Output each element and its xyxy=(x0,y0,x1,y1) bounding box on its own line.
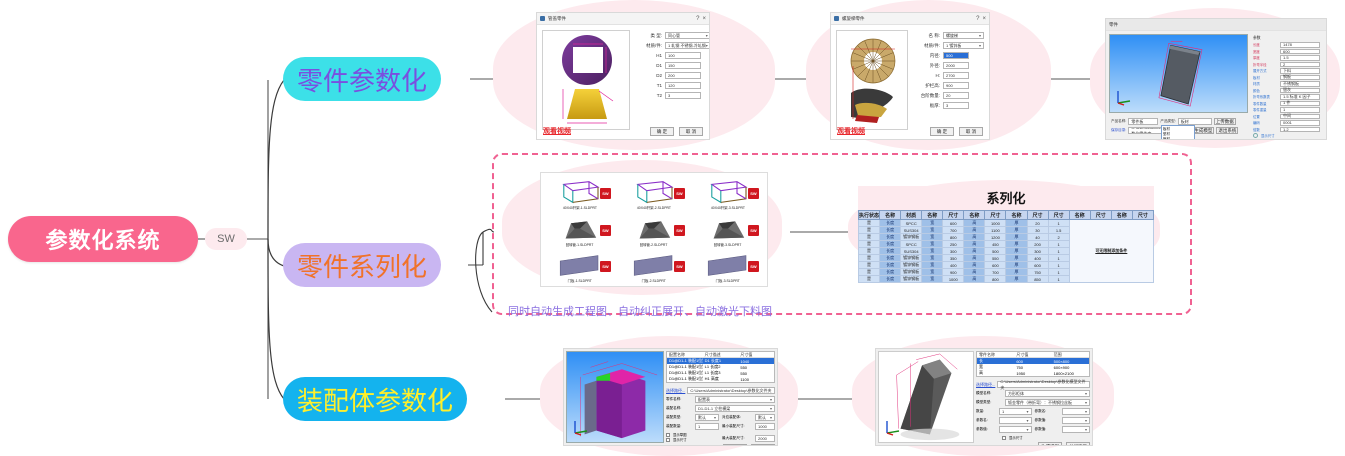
param-input[interactable]: 钢板 xyxy=(1280,75,1320,81)
part-item[interactable]: 40X40杆架-2.SLDPRT SW xyxy=(617,175,691,211)
field-input-thickness[interactable]: 3 xyxy=(943,102,969,109)
field-label: 参数名: xyxy=(1035,409,1059,414)
td: 高 xyxy=(964,276,985,283)
path-input[interactable]: C:\Users\Administrator\Desktop\参数化文件夹 xyxy=(687,387,775,394)
combo-name[interactable]: 螺旋梯 ▾ xyxy=(943,32,984,39)
connector-node-sw[interactable]: SW xyxy=(205,228,247,250)
td: 宽 xyxy=(922,255,943,262)
part-item[interactable]: 40X40杆架-3.SLDPRT SW xyxy=(691,175,765,211)
param-input[interactable]: 1.5 xyxy=(1280,55,1320,61)
combo-row[interactable]: 类 型: 同心管 ▾ xyxy=(636,32,710,39)
param-input[interactable]: 不锈钢板 xyxy=(1280,81,1320,87)
branch-pill-part-series[interactable]: 零件系列化 xyxy=(283,243,441,287)
checkbox-icon[interactable] xyxy=(666,433,670,437)
param-label: 展开方式 xyxy=(1253,68,1277,73)
param-label: 零件重量 xyxy=(1253,107,1277,112)
param-input[interactable]: 1478 xyxy=(1280,42,1320,48)
td: 700 xyxy=(985,269,1006,276)
field-label: D1 xyxy=(636,63,662,68)
td: 20 xyxy=(1027,220,1048,227)
field-row[interactable]: D2 200 xyxy=(636,72,710,79)
sw-file-badge: SW xyxy=(600,188,611,199)
upload-data-button[interactable]: 上传数据 xyxy=(1214,118,1236,125)
path-input[interactable]: C:\Users\Administrator\Desktop\参数化模型文件夹 xyxy=(997,381,1090,388)
param-input[interactable]: 1.5 标准 K 因子 xyxy=(1280,94,1320,100)
param-label: 板材 xyxy=(1253,75,1277,80)
cell: 1950 xyxy=(1014,371,1051,376)
chevron-down-icon: ▾ xyxy=(1026,418,1028,423)
td: 1.5 xyxy=(1048,227,1069,234)
product-type-label: 产品类型: xyxy=(1160,119,1175,124)
assembly-name-combo[interactable]: D1-D1-1 立柱横梁▾ xyxy=(695,405,775,412)
root-node[interactable]: 参数化系统 xyxy=(8,216,198,262)
td: 厚 xyxy=(1006,234,1027,241)
branch-label-part-series: 零件系列化 xyxy=(297,247,427,284)
product-type-dropdown[interactable]: 板材 型材 管材 焊件 其它 xyxy=(1161,125,1195,140)
param-name-combo-1[interactable]: ▾ xyxy=(1062,408,1091,415)
td: 850 xyxy=(1027,276,1048,283)
field-label: 参数值: xyxy=(1035,427,1059,432)
param-row[interactable]: 材质不锈钢板 xyxy=(1253,81,1321,87)
assembly-viewport-3d[interactable] xyxy=(566,351,664,443)
branch-label-assembly-param: 装配体参数化 xyxy=(297,381,453,418)
field-input-d1[interactable]: 150 xyxy=(665,62,701,69)
field-label: 数量: xyxy=(976,409,996,414)
field-row[interactable]: 参数名: ▾ xyxy=(976,417,1032,424)
close-icon[interactable]: × xyxy=(702,16,706,22)
window-title: 零件 xyxy=(1109,21,1118,27)
param-row[interactable]: 倍数1.2 xyxy=(1253,127,1321,133)
field-row[interactable]: 外径: 2000 xyxy=(914,62,984,69)
param-label: 厚度 xyxy=(1253,55,1277,60)
combo-row[interactable]: 材质/件: 1 镀锌板 ▾ xyxy=(914,42,984,49)
param-label: 长度 xyxy=(1253,42,1277,47)
preview-pane xyxy=(542,30,630,130)
td: 镀锌钢板 xyxy=(901,234,922,241)
param-row[interactable]: 板材钢板 xyxy=(1253,75,1321,81)
td: 1000 xyxy=(943,276,964,283)
combo-material[interactable]: 1 镀锌板 ▾ xyxy=(943,42,984,49)
value: 1 xyxy=(1002,409,1004,414)
param-input[interactable]: 600 xyxy=(1280,49,1320,55)
checkbox-icon[interactable] xyxy=(666,438,670,442)
config-list[interactable]: 配置名称 尺寸描述 尺寸值 D1@D1-1 装配1位置草图 D1 长度1 104… xyxy=(666,351,775,383)
field-label: 台阶数量: xyxy=(914,93,940,99)
field-label: 对应装配体: xyxy=(722,415,752,420)
part-item[interactable]: 回转管-2.SLDPRT SW xyxy=(617,211,691,247)
field-label: T1 xyxy=(636,83,662,88)
param-name-combo-2[interactable]: ▾ xyxy=(1062,417,1091,424)
td: 400 xyxy=(1027,255,1048,262)
field-label: 装配类型: xyxy=(666,415,692,420)
cell: 550 xyxy=(738,365,774,370)
assembly-qty-input[interactable]: 1 xyxy=(695,423,719,430)
td: 长度 xyxy=(880,255,901,262)
td: 200 xyxy=(1027,241,1048,248)
part-item[interactable]: 40X40杆架-1.SLDPRT SW xyxy=(543,175,617,211)
min-size-input[interactable]: 1000 xyxy=(755,423,775,430)
field-row[interactable]: 模型名称: 方形柜体▾ xyxy=(976,390,1090,397)
param-input[interactable]: 1 xyxy=(1280,107,1320,113)
col-dim-value: 尺寸值 xyxy=(1014,352,1051,358)
param-row[interactable]: 位置中间 xyxy=(1253,114,1321,120)
ok-button[interactable]: 确 定 xyxy=(650,127,674,136)
field-row[interactable]: 最大装配尺寸: 2000 xyxy=(722,435,775,442)
td: SPCC xyxy=(901,241,922,248)
combo-type-value: 同心管 xyxy=(668,33,680,39)
field-row[interactable]: 装配类型: 默认▾ xyxy=(666,414,719,421)
cell: 1040 xyxy=(738,359,774,364)
part-name-combo[interactable]: 配置表▾ xyxy=(695,396,775,403)
param-row[interactable]: 折弯半径2 xyxy=(1253,62,1321,68)
combo-label: 材质/件: xyxy=(636,43,662,49)
th: 名称 xyxy=(1006,211,1027,220)
part-item[interactable]: 门板-3.SLDPRT SW xyxy=(691,248,765,284)
field-input-t2[interactable]: 3 xyxy=(665,92,701,99)
field-input-step-count[interactable]: 20 xyxy=(943,92,969,99)
field-row[interactable]: 参数值: ▾ xyxy=(976,426,1032,433)
field-input-height[interactable]: 2700 xyxy=(943,72,969,79)
td: 是 xyxy=(859,227,880,234)
cell: 1100 xyxy=(738,377,774,382)
field-row[interactable]: 参数值: ▾ xyxy=(1035,417,1091,424)
save-path-label[interactable]: 保存目录: xyxy=(1111,128,1126,133)
select-path-link[interactable]: 选择路径... xyxy=(666,388,685,394)
th: 尺寸 xyxy=(985,211,1006,220)
part-preview-graphic xyxy=(543,31,631,131)
show-dimensions-label: 显示尺寸 xyxy=(1261,133,1275,138)
td: 高 xyxy=(964,234,985,241)
td: SPCC xyxy=(901,220,922,227)
dialog-buttons: 确 定 取 消 xyxy=(650,127,703,136)
field-row[interactable]: 板厚: 3 xyxy=(914,102,984,109)
combo-row[interactable]: 名 称: 螺旋梯 ▾ xyxy=(914,32,984,39)
param-row[interactable]: 展开方式下料 xyxy=(1253,68,1321,74)
part-item[interactable]: 回转管-3.SLDPRT SW xyxy=(691,211,765,247)
field-row[interactable]: 对应装配体: 默认▾ xyxy=(722,414,775,421)
td: 300 xyxy=(943,248,964,255)
td: SUS304 xyxy=(901,248,922,255)
td: 1 xyxy=(1048,220,1069,227)
app-icon xyxy=(834,16,839,21)
axis-triad-icon xyxy=(884,418,902,436)
chevron-down-icon: ▾ xyxy=(1026,409,1028,414)
param-input[interactable]: 下料 xyxy=(1280,68,1320,74)
param-input[interactable]: 银灰 xyxy=(1280,88,1320,94)
combo-type[interactable]: 同心管 ▾ xyxy=(665,32,710,39)
td: 高 xyxy=(964,269,985,276)
field-row[interactable]: H: 2700 xyxy=(914,72,984,79)
dropdown-item[interactable]: 管材 xyxy=(1162,136,1194,140)
cell: H1 高度 xyxy=(703,376,739,382)
close-window-button[interactable]: 关闭窗口 xyxy=(751,444,775,446)
chevron-down-icon: ▾ xyxy=(770,415,772,420)
select-path-link[interactable]: 选择路径... xyxy=(976,382,995,388)
assembly-type-combo[interactable]: 默认▾ xyxy=(695,414,719,421)
field-input-h1[interactable]: 100 xyxy=(665,52,701,59)
param-checkbox-row[interactable]: 显示尺寸 xyxy=(1253,133,1321,138)
field-row[interactable]: 护栏高: 900 xyxy=(914,82,984,89)
param-label: 颜色 xyxy=(1253,88,1277,93)
td: 长度 xyxy=(880,227,901,234)
td: 1200 xyxy=(985,234,1006,241)
sw-file-badge: SW xyxy=(748,225,759,236)
root-label: 参数化系统 xyxy=(45,223,160,255)
th: 尺寸 xyxy=(1090,211,1111,220)
td: 800 xyxy=(943,234,964,241)
th: 尺寸 xyxy=(943,211,964,220)
chevron-down-icon: ▾ xyxy=(979,43,981,48)
field-row[interactable]: 参数值: ▾ xyxy=(1035,426,1091,433)
td: 宽 xyxy=(922,276,943,283)
td: 1 xyxy=(1048,255,1069,262)
td: 厚 xyxy=(1006,269,1027,276)
field-label: T2 xyxy=(636,93,662,98)
td: 250 xyxy=(943,241,964,248)
th: 执行状态 xyxy=(859,211,880,220)
branch-label-part-param: 零件参数化 xyxy=(297,61,427,98)
field-row[interactable]: H1 100 xyxy=(636,52,710,59)
field-input-outer-dia[interactable]: 2000 xyxy=(943,62,969,69)
td: 高 xyxy=(964,262,985,269)
field-row[interactable]: 装配数量: 1 xyxy=(666,423,719,430)
chevron-down-icon: ▾ xyxy=(1085,391,1087,396)
model-viewport-3d[interactable] xyxy=(878,351,974,443)
part-item[interactable]: 门板-2.SLDPRT SW xyxy=(617,248,691,284)
td: 是 xyxy=(859,255,880,262)
viewport-3d[interactable] xyxy=(1109,34,1248,113)
value: D1-D1-1 立柱横梁 xyxy=(698,406,730,412)
field-input-t1[interactable]: 120 xyxy=(665,82,701,89)
param-input[interactable]: 1 件 xyxy=(1280,101,1320,107)
close-window-button[interactable]: 关闭窗口 xyxy=(1066,442,1090,446)
td: 是 xyxy=(859,234,880,241)
field-label: H1 xyxy=(636,53,662,58)
td: 450 xyxy=(985,241,1006,248)
window-sheetmetal-param[interactable]: 零件 xyxy=(1105,18,1327,140)
field-label: 模型名称: xyxy=(976,391,1002,396)
th: 名称 xyxy=(1069,211,1090,220)
generate-model-button[interactable]: 生成模型 xyxy=(1192,127,1214,134)
td: 宽 xyxy=(922,227,943,234)
td: 厚 xyxy=(1006,248,1027,255)
checkbox-row[interactable]: 显示尺寸 xyxy=(666,437,719,442)
td: 600 xyxy=(985,262,1006,269)
field-row[interactable]: 内径: 500 xyxy=(914,52,984,59)
combo-label: 名 称: xyxy=(914,33,940,39)
param-input[interactable]: 中间 xyxy=(1280,114,1320,120)
param-label: 位置 xyxy=(1253,114,1277,119)
td: 长度 xyxy=(880,220,901,227)
param-row[interactable]: 零件重量1 xyxy=(1253,107,1321,113)
th: 名称 xyxy=(922,211,943,220)
show-dim-label: 显示尺寸 xyxy=(673,437,687,442)
window-assembly-param[interactable]: 配置名称 尺寸描述 尺寸值 D1@D1-1 装配1位置草图 D1 长度1 104… xyxy=(563,348,778,446)
series-note-label: 同时自动生成工程图、自动纠正展开、自动激光下料图 xyxy=(508,303,772,319)
product-name-combo[interactable]: 零件板 xyxy=(1128,118,1158,125)
radio-icon[interactable] xyxy=(1253,133,1258,138)
series-table[interactable]: 执行状态 名称 材质 名称 尺寸 名称 尺寸 名称 尺寸 尺寸 名称 尺寸 名称… xyxy=(858,210,1154,283)
value: 默认 xyxy=(698,415,706,421)
combo-material[interactable]: 1 轧钢 不锈钢-冷轧钢 ▾ xyxy=(665,42,710,49)
series-table-title: 系列化 xyxy=(858,186,1154,210)
chevron-down-icon: ▾ xyxy=(706,43,708,48)
param-row[interactable]: 零件数量1 件 xyxy=(1253,101,1321,107)
chevron-down-icon: ▾ xyxy=(1026,427,1028,432)
td: 宽 xyxy=(922,248,943,255)
param-row[interactable]: 颜色银灰 xyxy=(1253,88,1321,94)
max-size-input[interactable]: 2000 xyxy=(755,435,775,442)
part-item[interactable]: 门板-1.SLDPRT SW xyxy=(543,248,617,284)
td: 750 xyxy=(1027,269,1048,276)
td: 镀锌钢板 xyxy=(901,276,922,283)
product-type-combo[interactable]: 板材 xyxy=(1178,118,1212,125)
th: 材质 xyxy=(901,211,922,220)
param-input[interactable]: 2 xyxy=(1280,62,1320,68)
field-row[interactable]: 装配名称: D1-D1-1 立柱横梁▾ xyxy=(666,405,775,412)
param-label: 零件数量 xyxy=(1253,101,1277,106)
parts-file-grid[interactable]: 40X40杆架-1.SLDPRT SW 40X40杆架-2.SLDPRT SW xyxy=(540,172,768,287)
sw-file-badge: SW xyxy=(674,261,685,272)
param-panel: 参数 长度1478 宽度600 厚度1.5 折弯半径2 展开方式下料 板材钢板 … xyxy=(1251,34,1323,136)
field-input-inner-dia[interactable]: 500 xyxy=(943,52,969,59)
param-label: 材质 xyxy=(1253,81,1277,86)
td: 厚 xyxy=(1006,262,1027,269)
chevron-down-icon: ▾ xyxy=(1085,400,1087,405)
close-icon[interactable]: × xyxy=(982,16,986,22)
field-row[interactable]: D1 150 xyxy=(636,62,710,69)
table-header-row: 执行状态 名称 材质 名称 尺寸 名称 尺寸 名称 尺寸 尺寸 名称 尺寸 名称… xyxy=(859,211,1154,220)
cancel-button[interactable]: 取 消 xyxy=(679,127,703,136)
checkbox-icon[interactable] xyxy=(1002,436,1006,440)
param-name-input[interactable]: ▾ xyxy=(999,417,1032,424)
dialog-spiral-stair[interactable]: 螺旋梯零件 ? × xyxy=(830,12,990,140)
target-assembly-combo[interactable]: 默认▾ xyxy=(755,414,775,421)
quantity-combo[interactable]: 1▾ xyxy=(999,408,1032,415)
td: 30 xyxy=(1027,227,1048,234)
window-model-param[interactable]: 零件名称 尺寸值 范围 长 600 500×800 宽 750 600×900 xyxy=(875,348,1093,446)
td: 厚 xyxy=(1006,220,1027,227)
help-icon[interactable]: ? xyxy=(976,16,979,22)
video-link[interactable]: 观看视频 xyxy=(543,126,571,136)
field-input-rail-height[interactable]: 900 xyxy=(943,82,969,89)
cell: 550 xyxy=(738,371,774,376)
table-row[interactable]: 是 长度 SPCC 宽 600 高 1000 厚 20 1 可无限制添加条件 xyxy=(859,220,1154,227)
field-row[interactable]: T1 120 xyxy=(636,82,710,89)
td: 是 xyxy=(859,269,880,276)
cell: 750 xyxy=(1014,365,1051,370)
branch-pill-assembly-param[interactable]: 装配体参数化 xyxy=(283,377,467,421)
cell: 500×800 xyxy=(1052,359,1089,364)
ok-button[interactable]: 确 定 xyxy=(930,127,954,136)
field-input-d2[interactable]: 200 xyxy=(665,72,701,79)
field-label: 最小装配尺寸: xyxy=(722,424,752,429)
list-item[interactable]: D1@D1-1 装配1位置草图 H1 高度 1100 xyxy=(667,376,774,382)
field-label: 外径: xyxy=(914,63,940,69)
param-row[interactable]: 编码0001 xyxy=(1253,120,1321,126)
checkbox-row[interactable]: 显示尺寸 xyxy=(976,435,1090,440)
generate-model-button[interactable]: 生成模型 xyxy=(1038,442,1062,446)
param-row[interactable]: 折弯系数表1.5 标准 K 因子 xyxy=(1253,94,1321,100)
cell: D1@D1-1 装配1位置草图 xyxy=(667,376,703,382)
field-row[interactable]: 模型类型: 钣金零件（带折弯）：不锈钢拉丝板▾ xyxy=(976,399,1090,406)
value: 钣金零件（带折弯）：不锈钢拉丝板 xyxy=(1008,400,1072,406)
param-input[interactable]: 0001 xyxy=(1280,120,1320,126)
dialog-title: 螺旋梯零件 xyxy=(842,15,865,21)
param-row[interactable]: 长度1478 xyxy=(1253,42,1321,48)
part-item[interactable]: 回转管-1.SLDPRT SW xyxy=(543,211,617,247)
list-item[interactable]: 高 1950 1800×2100 xyxy=(977,370,1089,376)
field-row[interactable]: 零件名称: 配置表▾ xyxy=(666,396,775,403)
param-input[interactable]: 1.2 xyxy=(1280,127,1320,133)
param-row[interactable]: 宽度600 xyxy=(1253,49,1321,55)
value: 默认 xyxy=(758,415,766,421)
td: 2 xyxy=(1048,234,1069,241)
param-value-input[interactable]: ▾ xyxy=(999,426,1032,433)
field-label: 参数名: xyxy=(976,418,996,423)
cell: 600×900 xyxy=(1052,365,1089,370)
field-row[interactable]: T2 3 xyxy=(636,92,710,99)
td: 300 xyxy=(1027,248,1048,255)
td: 1 xyxy=(1048,262,1069,269)
model-name-combo[interactable]: 方形柜体▾ xyxy=(1005,390,1090,397)
col-part-name: 零件名称 xyxy=(977,352,1014,358)
exit-system-button[interactable]: 退出系统 xyxy=(1216,127,1238,134)
model-param-list[interactable]: 零件名称 尺寸值 范围 长 600 500×800 宽 750 600×900 xyxy=(976,351,1090,377)
dialog-titlebar: 管盖零件 ? × xyxy=(537,13,709,25)
model-type-combo[interactable]: 钣金零件（带折弯）：不锈钢拉丝板▾ xyxy=(1005,399,1090,406)
td: 800 xyxy=(985,276,1006,283)
field-row[interactable]: 数量: 1▾ xyxy=(976,408,1032,415)
td: 厚 xyxy=(1006,276,1027,283)
branch-pill-part-param[interactable]: 零件参数化 xyxy=(283,57,441,101)
td: 1 xyxy=(1048,248,1069,255)
param-label: 宽度 xyxy=(1253,49,1277,54)
chevron-down-icon: ▾ xyxy=(770,397,772,402)
connector-label: SW xyxy=(217,233,235,245)
generate-assembly-button[interactable]: 生成装配 xyxy=(723,444,747,446)
td: 宽 xyxy=(922,234,943,241)
th: 名称 xyxy=(880,211,901,220)
param-value-combo[interactable]: ▾ xyxy=(1062,426,1091,433)
sw-file-badge: SW xyxy=(600,261,611,272)
param-label: 折弯系数表 xyxy=(1253,94,1277,99)
series-table-shot[interactable]: 系列化 执行状态 名称 材质 名称 尺寸 名称 尺寸 名称 尺寸 尺寸 名称 尺… xyxy=(858,186,1154,274)
combo-label: 类 型: xyxy=(636,33,662,39)
help-icon[interactable]: ? xyxy=(696,16,699,22)
param-row[interactable]: 厚度1.5 xyxy=(1253,55,1321,61)
field-row[interactable]: 最小装配尺寸: 1000 xyxy=(722,423,775,430)
video-link[interactable]: 观看视频 xyxy=(837,126,865,136)
col-dim-value: 尺寸值 xyxy=(738,352,774,358)
field-row[interactable]: 参数名: ▾ xyxy=(1035,408,1091,415)
bottom-controls: 产品名称: 零件板 产品类型: 板材 上传数据 保存目录: C:\Users\A… xyxy=(1109,116,1248,136)
td: 镀锌钢板 xyxy=(901,262,922,269)
field-row[interactable]: 台阶数量: 20 xyxy=(914,92,984,99)
td: 1 xyxy=(1048,276,1069,283)
combo-row[interactable]: 材质/件: 1 轧钢 不锈钢-冷轧钢 ▾ xyxy=(636,42,710,49)
chevron-down-icon: ▾ xyxy=(714,415,716,420)
window-titlebar: 零件 xyxy=(1106,19,1326,31)
td: 是 xyxy=(859,241,880,248)
cell: 1800×2100 xyxy=(1052,371,1089,376)
parameter-fields: 类 型: 同心管 ▾ 材质/件: 1 轧钢 不锈钢-冷轧钢 ▾ H1 100 xyxy=(636,30,710,134)
sw-file-badge: SW xyxy=(674,225,685,236)
field-label: D2 xyxy=(636,73,662,78)
cancel-button[interactable]: 取 消 xyxy=(959,127,983,136)
param-label: 编码 xyxy=(1253,120,1277,125)
dialog-pipe-cover[interactable]: 管盖零件 ? × xyxy=(536,12,710,140)
